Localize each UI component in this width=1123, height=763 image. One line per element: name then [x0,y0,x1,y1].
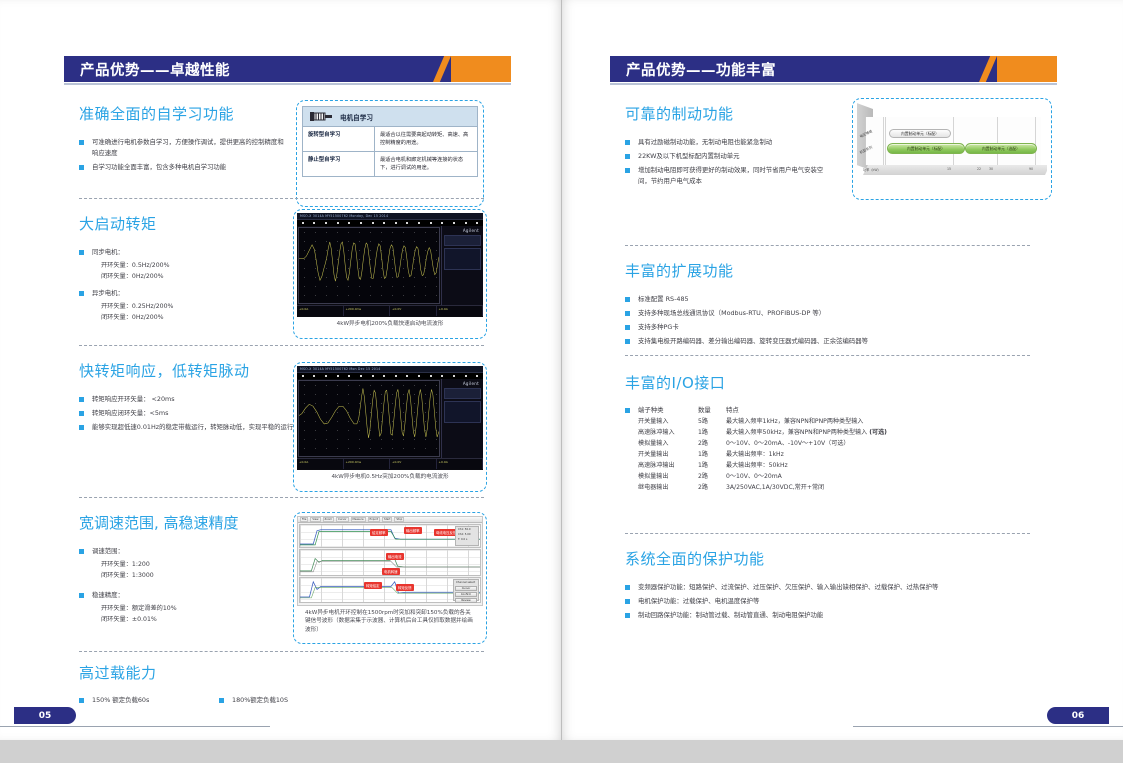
divider [625,533,1030,534]
cell-feature: 最大输入频率1kHz，兼容NPN和PNP两种类型输入 [726,416,1025,427]
cell-type: 高速脉冲输入 [638,427,698,438]
cell-qty: 2路 [698,438,726,449]
chart-pill: 内置制动单元（标配） [889,129,951,138]
list-item: 150% 额定负载60s [79,695,219,706]
trace-button[interactable]: Confirm [455,592,477,597]
axis-tick: 功率（kW） [863,167,881,172]
trace-button[interactable]: Review [455,598,477,603]
scope-grid [298,380,440,457]
chart-pill: 内置制动单元（标配） [887,143,965,154]
figure-caption: 4kW异步电机0.5Hz突加200%负载的电流波形 [297,470,483,482]
section-heading: 丰富的扩展功能 [625,260,955,281]
section-heading: 大启动转矩 [79,213,284,234]
trace-pane: 给定频率 输出频率 母线电压反馈 Ch1: 50.0Ch2: 5.00T: 0.… [299,524,481,548]
axis-tick: 15 [947,167,951,171]
scope-sidebar: Agilent [441,379,483,458]
section-heading: 可靠的制动功能 [625,103,835,124]
section-heading: 系统全面的保护功能 [625,548,1025,569]
cell-type: 开关量输入 [638,416,698,427]
page-number: 05 [39,711,52,721]
footer-line [0,726,270,727]
table-title: 电机自学习 [340,112,373,122]
section-heading: 准确全面的自学习功能 [79,103,284,124]
divider [79,651,484,652]
trace-software-capture: FileViewZoomCursorMeasureExportStartStop… [297,516,483,606]
bullet-list: 可准确进行电机参数自学习，方便操作调试，提供更高的控制精度和响应速度 自学习功能… [79,137,284,173]
section-self-learning: 准确全面的自学习功能 可准确进行电机参数自学习，方便操作调试，提供更高的控制精度… [79,103,284,176]
cell-feature-emphasis: (可选) [869,429,887,436]
brochure-spread: 产品优势——卓越性能 准确全面的自学习功能 可准确进行电机参数自学习，方便操作调… [0,0,1123,763]
banner-bar: 产品优势——功能丰富 [610,56,979,82]
list-item: 同步电机： [79,247,284,258]
bullet-list: 变频器保护功能：短路保护、过流保护、过压保护、欠压保护、输入输出缺相保护、过载保… [625,582,1025,621]
cell-feature: 最大输入频率50kHz，兼容NPN和PNP两种类型输入 (可选) [726,427,1025,438]
cell-type: 开关量输出 [638,449,698,460]
cell-type: 继电器输出 [638,482,698,493]
annotation-label: 给定频率 [370,529,388,536]
motor-self-learning-table: 电机自学习 旋转型自学习 最适合以往需要高起动转矩、高速、高控制精度的用途。 静… [302,106,478,177]
spec-line: 闭环矢量：0Hz/200% [79,272,284,283]
divider [79,497,484,498]
bullet-list: 150% 额定负载60s [79,695,219,709]
col-header-feature: 特点 [726,405,739,416]
list-item: 异步电机： [79,288,284,299]
waveform-trace [299,228,439,293]
list-item: 支持多种现场总线通讯协议（Modbus-RTU、PROFIBUS-DP 等） [625,308,955,319]
footer-line [853,726,1123,727]
list-item: 稳速精度： [79,590,284,601]
cell-qty: 5路 [698,416,726,427]
page-number-tag-left: 05 [14,707,76,724]
trace-pane: 输出电流 电机转速 [299,549,481,576]
io-table-header: 端子种类 数量 特点 [625,405,1025,416]
list-item: 转矩响应闭环矢量：<5ms [79,408,294,419]
scope-brand-label: Agilent [444,381,481,386]
section-heading: 丰富的I/O接口 [625,372,1025,393]
spec-line: 开环矢量：0.25Hz/200% [79,302,284,313]
table-row: 模拟量输出 2路 0～10V、0～20mA [638,471,1025,482]
figure-brake-chart-frame: 电压等级 机型系列 内置制动单元（标配） 内置制动单元（标配） 内置制动单元（选… [852,98,1052,200]
axis-tick: 90 [1029,167,1033,171]
motor-icon [309,111,335,122]
axis-tick: 22 [977,167,981,171]
cell-type: 模拟量输出 [638,471,698,482]
banner-orange-block [997,56,1057,82]
divider [79,345,484,346]
table-header: 电机自学习 [303,107,477,127]
cell-feature: 最大输出频率：1kHz [726,449,1025,460]
list-item: 能够实现超低速0.01Hz的稳定带载运行，转矩脉动低，实现平稳的运行 [79,422,294,433]
row-name: 旋转型自学习 [303,127,375,151]
trace-control-panel[interactable]: Channel select Cursor Confirm Review [453,579,479,601]
figure-trace-frame: FileViewZoomCursorMeasureExportStartStop… [293,512,487,644]
axis-tick: 30 [989,167,993,171]
spec-line: 闭环矢量：1:3000 [79,571,284,582]
list-item: 调速范围： [79,546,284,557]
annotation-label: 输出电流 [386,553,404,560]
cell-qty: 1路 [698,460,726,471]
banner-underline [610,83,1057,85]
annotation-label: 输出频率 [404,527,422,534]
list-item: 制动回路保护功能：制动管过载、制动管直通、制动电阻保护功能 [625,610,1025,621]
io-table: 开关量输入 5路 最大输入频率1kHz，兼容NPN和PNP两种类型输入 高速脉冲… [625,416,1025,493]
cell-qty: 2路 [698,471,726,482]
page-number: 06 [1072,711,1085,721]
list-item: 支持集电极开路编码器、差分输出编码器、旋转变压器式编码器、正余弦编码器等 [625,336,870,347]
list-item: 180%额定负载10S [219,695,288,706]
figure-caption: 4kW异步电机200%负载快速启动电流波形 [297,317,483,329]
chart-pill: 内置制动单元（选配） [965,143,1037,154]
figure-caption: 4kW异步电机开环控制在1500rpm时突加和突卸150%负载的各关键信号波形（… [297,606,483,635]
bullet-list: 同步电机： [79,247,284,258]
banner-slash-icon [979,56,997,82]
table-row: 高速脉冲输入 1路 最大输入频率50kHz，兼容NPN和PNP两种类型输入 (可… [638,427,1025,438]
table-row: 静止型自学习 最适合电机和廊定机械等连接的状态下，进行调试的用途。 [303,152,477,176]
figure-scope-1-frame: MSO-X 3014A MY51500762 Monday, Dec 15 20… [293,209,487,339]
scope-titlebar: MSO-X 3014A MY51500762 Monday, Dec 15 20… [297,213,483,220]
table-row: 开关量输出 1路 最大输出频率：1kHz [638,449,1025,460]
right-banner-title: 产品优势——功能丰富 [626,59,776,80]
page-number-tag-right: 06 [1047,707,1109,724]
annotation-label: 电机转速 [382,568,400,575]
section-heading: 高过载能力 [79,662,409,683]
list-item: 可准确进行电机参数自学习，方便操作调试，提供更高的控制精度和响应速度 [79,137,284,159]
left-banner-title: 产品优势——卓越性能 [80,59,230,80]
section-protection: 系统全面的保护功能 变频器保护功能：短路保护、过流保护、过压保护、欠压保护、输入… [625,548,1025,624]
section-braking: 可靠的制动功能 具有过励磁制动功能，无制动电阻也能紧急制动 22KW及以下机型标… [625,103,835,190]
table-row: 旋转型自学习 最适合以往需要高起动转矩、高速、高控制精度的用途。 [303,127,477,152]
spec-line: 闭环矢量：±0.01% [79,615,284,626]
scope-sidebar: Agilent [441,226,483,305]
chart-axis-plane [863,165,1047,175]
scope-measurement-bar: +0.0A+200.0ms+0.0V+0.0A [297,458,483,469]
oscilloscope-image-2: MSO-X 3014A MY51500762 Mon Dec 15 2014 [297,366,483,470]
section-speed-range: 宽调速范围, 高稳速精度 调速范围： 开环矢量：1:200 闭环矢量：1:300… [79,512,284,625]
section-heading: 宽调速范围, 高稳速精度 [79,512,284,533]
trace-button[interactable]: Cursor [455,586,477,591]
scope-titlebar: MSO-X 3014A MY51500762 Mon Dec 15 2014 [297,366,483,373]
list-item: 变频器保护功能：短路保护、过流保护、过压保护、欠压保护、输入输出缺相保护、过载保… [625,582,1025,593]
divider [79,198,484,199]
page-left: 产品优势——卓越性能 准确全面的自学习功能 可准确进行电机参数自学习，方便操作调… [0,0,561,740]
figure-motor-table-frame: 电机自学习 旋转型自学习 最适合以往需要高起动转矩、高速、高控制精度的用途。 静… [296,100,484,207]
braking-unit-chart: 电压等级 机型系列 内置制动单元（标配） 内置制动单元（标配） 内置制动单元（选… [857,103,1047,195]
spec-line: 闭环矢量：0Hz/200% [79,313,284,324]
cell-feature: 0～10V、0～20mA [726,471,1025,482]
trace-info-panel: Ch1: 50.0Ch2: 5.00T: 0.0 s [455,526,479,546]
col-header-type: 端子种类 [638,405,698,416]
banner-slash-icon [433,56,451,82]
oscilloscope-image-1: MSO-X 3014A MY51500762 Monday, Dec 15 20… [297,213,483,317]
banner-bar: 产品优势——卓越性能 [64,56,433,82]
bullet-list: 具有过励磁制动功能，无制动电阻也能紧急制动 22KW及以下机型标配内置制动单元 … [625,137,835,187]
cell-feature: 3A/250VAC,1A/30VDC,常开+常闭 [726,482,1025,493]
cell-type: 模拟量输入 [638,438,698,449]
bullet-list: 180%额定负载10S [219,695,288,709]
list-item: 支持多种PG卡 [625,322,955,333]
banner-orange-block [451,56,511,82]
scope-brand-label: Agilent [444,228,481,233]
divider [625,355,1030,356]
annotation-label: 转矩反馈 [396,584,414,591]
bullet-list: 标准配置 RS-485 支持多种现场总线通讯协议（Modbus-RTU、PROF… [625,294,955,347]
cell-feature: 最大输出频率：50kHz [726,460,1025,471]
banner-underline [64,83,511,85]
spec-line: 开环矢量：1:200 [79,560,284,571]
bullet-list: 转矩响应开环矢量： <20ms 转矩响应闭环矢量：<5ms 能够实现超低速0.0… [79,394,294,433]
col-header-qty: 数量 [698,405,726,416]
scope-grid [298,227,440,304]
scope-measurement-bar: +0.0A+200.0ms+0.0V+0.0A [297,305,483,316]
row-name: 静止型自学习 [303,152,375,176]
list-item: 标准配置 RS-485 [625,294,955,305]
cell-type: 高速脉冲输出 [638,460,698,471]
left-page-banner: 产品优势——卓越性能 [64,56,511,82]
cell-feature: 0～10V、0～20mA、-10V～+10V（可选） [726,438,1025,449]
waveform-trace [299,381,439,446]
list-item: 自学习功能全面丰富，包含多种电机自学习功能 [79,162,284,173]
section-starting-torque: 大启动转矩 同步电机： 开环矢量：0.5Hz/200% 闭环矢量：0Hz/200… [79,213,284,323]
row-desc: 最适合以往需要高起动转矩、高速、高控制精度的用途。 [375,127,477,151]
cell-feature-text: 最大输入频率50kHz，兼容NPN和PNP两种类型输入 [726,429,869,436]
spec-line: 开环矢量：0.5Hz/200% [79,261,284,272]
table-row: 开关量输入 5路 最大输入频率1kHz，兼容NPN和PNP两种类型输入 [638,416,1025,427]
section-io: 丰富的I/O接口 端子种类 数量 特点 开关量输入 5路 最大输入频率1kHz，… [625,372,1025,493]
bullet-list: 调速范围： [79,546,284,557]
divider [625,245,1030,246]
annotation-label: 转矩给定 [364,582,382,589]
list-item: 22KW及以下机型标配内置制动单元 [625,151,835,162]
right-page-banner: 产品优势——功能丰富 [610,56,1057,82]
bullet-list: 异步电机： [79,288,284,299]
cell-qty: 1路 [698,449,726,460]
section-overload: 高过载能力 150% 额定负载60s 180%额定负载10S [79,662,409,709]
table-row: 继电器输出 2路 3A/250VAC,1A/30VDC,常开+常闭 [638,482,1025,493]
row-desc: 最适合电机和廊定机械等连接的状态下，进行调试的用途。 [375,152,477,176]
cell-qty: 1路 [698,427,726,438]
spec-line: 开环矢量：额定滑差的10% [79,604,284,615]
list-item: 具有过励磁制动功能，无制动电阻也能紧急制动 [625,137,835,148]
list-item: 转矩响应开环矢量： <20ms [79,394,294,405]
trace-pane: 转矩给定 转矩反馈 Channel select Cursor Confirm … [299,577,481,603]
figure-scope-2-frame: MSO-X 3014A MY51500762 Mon Dec 15 2014 [293,362,487,492]
section-heading: 快转矩响应，低转矩脉动 [79,360,294,381]
list-item: 增加制动电阻即可获得更好的制动效果，同时节省用户电气安装空间，节约用户电气成本 [625,165,835,187]
table-row: 高速脉冲输出 1路 最大输出频率：50kHz [638,460,1025,471]
list-item: 电机保护功能：过载保护、电机温度保护等 [625,596,1025,607]
table-row: 模拟量输入 2路 0～10V、0～20mA、-10V～+10V（可选） [638,438,1025,449]
section-torque-response: 快转矩响应，低转矩脉动 转矩响应开环矢量： <20ms 转矩响应闭环矢量：<5m… [79,360,294,436]
cell-qty: 2路 [698,482,726,493]
page-right: 产品优势——功能丰富 可靠的制动功能 具有过励磁制动功能，无制动电阻也能紧急制动… [562,0,1123,740]
bullet-list: 稳速精度： [79,590,284,601]
section-expansion: 丰富的扩展功能 标准配置 RS-485 支持多种现场总线通讯协议（Modbus-… [625,260,955,350]
